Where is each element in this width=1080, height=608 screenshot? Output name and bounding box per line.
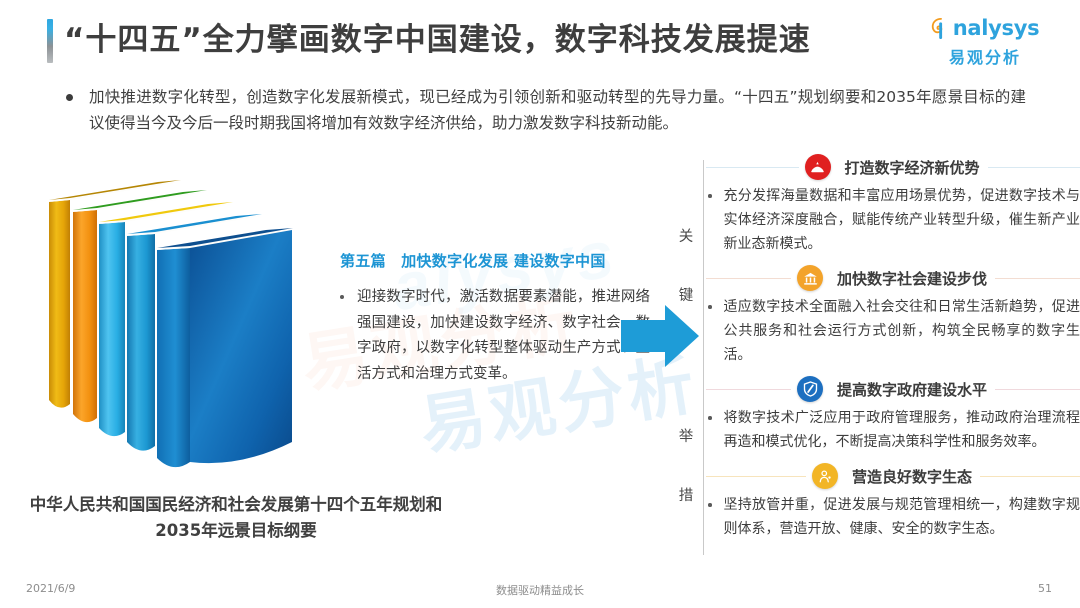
books-svg <box>40 170 310 490</box>
section-rule-right <box>995 389 1080 390</box>
section-digital-society[interactable]: 加快数字社会建设步伐 适应数字技术全面融入社会交往和日常生活新趋势，促进公共服务… <box>706 263 1080 367</box>
section-rule-left <box>706 389 791 390</box>
lead-paragraph: 加快推进数字化转型，创造数字化发展新模式，现已经成为引领创新和驱动转型的先导力量… <box>66 84 1026 136</box>
key-char-3: 措 <box>679 467 694 526</box>
section-digital-economy[interactable]: 打造数字经济新优势 充分发挥海量数据和丰富应用场景优势，促进数字技术与实体经济深… <box>706 152 1080 256</box>
section-title: 打造数字经济新优势 <box>845 157 980 178</box>
person-icon <box>812 463 838 489</box>
page-title: “十四五”全力擘画数字中国建设，数字科技发展提速 <box>64 14 811 59</box>
center-heading: 第五篇 加快数字化发展 建设数字中国 <box>340 250 650 271</box>
section-rule-right <box>988 167 1080 168</box>
section-rule-right <box>980 476 1080 477</box>
logo-chinese: 易观分析 <box>920 44 1050 68</box>
bullet-dot-icon <box>708 416 712 420</box>
right-arrow-icon <box>621 305 699 367</box>
section-title: 提高数字政府建设水平 <box>837 379 987 400</box>
footer-page-number: 51 <box>1038 582 1052 595</box>
brand-logo: nalysys 易观分析 <box>920 13 1050 69</box>
section-rule-left <box>706 476 806 477</box>
title-accent-bar <box>47 19 53 63</box>
lead-text: 加快推进数字化转型，创造数字化发展新模式，现已经成为引领创新和驱动转型的先导力量… <box>89 84 1026 136</box>
bullet-dot-icon <box>708 305 712 309</box>
footer-slogan: 数据驱动精益成长 <box>0 582 1080 598</box>
key-char-0: 关 <box>679 208 694 267</box>
logo-wordmark: nalysys <box>953 16 1040 40</box>
bullet-dot-icon <box>66 94 73 101</box>
books-caption: 中华人民共和国国民经济和社会发展第十四个五年规划和2035年远景目标纲要 <box>26 492 446 544</box>
bullet-dot-icon <box>340 295 344 299</box>
slide: 易观分析 alysys 易观分析 “十四五”全力擘画数字中国建设，数字科技发展提… <box>0 0 1080 608</box>
vertical-divider <box>703 160 704 555</box>
analysys-mark-icon <box>931 17 952 39</box>
bullet-dot-icon <box>708 194 712 198</box>
section-digital-ecology[interactable]: 营造良好数字生态 坚持放管并重，促进发展与规范管理相统一，构建数字规则体系，营造… <box>706 461 1080 541</box>
slide-header: “十四五”全力擘画数字中国建设，数字科技发展提速 nalysys 易观分析 <box>0 0 1080 78</box>
section-text: 充分发挥海量数据和丰富应用场景优势，促进数字技术与实体经济深度融合，赋能传统产业… <box>724 184 1080 256</box>
section-title: 营造良好数字生态 <box>852 466 972 487</box>
section-text: 将数字技术广泛应用于政府管理服务，推动政府治理流程再造和模式优化，不断提高决策科… <box>724 406 1080 454</box>
slide-footer: 2021/6/9 数据驱动精益成长 51 <box>0 574 1080 608</box>
key-char-2: 举 <box>679 408 694 467</box>
section-text: 坚持放管并重，促进发展与规范管理相统一，构建数字规则体系，营造开放、健康、安全的… <box>724 493 1080 541</box>
books-illustration <box>40 170 310 490</box>
section-title: 加快数字社会建设步伐 <box>837 268 987 289</box>
section-rule-left <box>706 278 791 279</box>
key-measures-list: 打造数字经济新优势 充分发挥海量数据和丰富应用场景优势，促进数字技术与实体经济深… <box>706 152 1080 548</box>
helmet-icon <box>805 154 831 180</box>
section-rule-right <box>995 278 1080 279</box>
section-text: 适应数字技术全面融入社会交往和日常生活新趋势，促进公共服务和社会运行方式创新，构… <box>724 295 1080 367</box>
bullet-dot-icon <box>708 503 712 507</box>
center-text: 迎接数字时代，激活数据要素潜能，推进网络强国建设，加快建设数字经济、数字社会、数… <box>357 285 650 387</box>
bank-icon <box>797 265 823 291</box>
section-digital-government[interactable]: 提高数字政府建设水平 将数字技术广泛应用于政府管理服务，推动政府治理流程再造和模… <box>706 374 1080 454</box>
shield-icon <box>797 376 823 402</box>
section-rule-left <box>706 167 799 168</box>
center-block: 第五篇 加快数字化发展 建设数字中国 迎接数字时代，激活数据要素潜能，推进网络强… <box>340 250 650 387</box>
